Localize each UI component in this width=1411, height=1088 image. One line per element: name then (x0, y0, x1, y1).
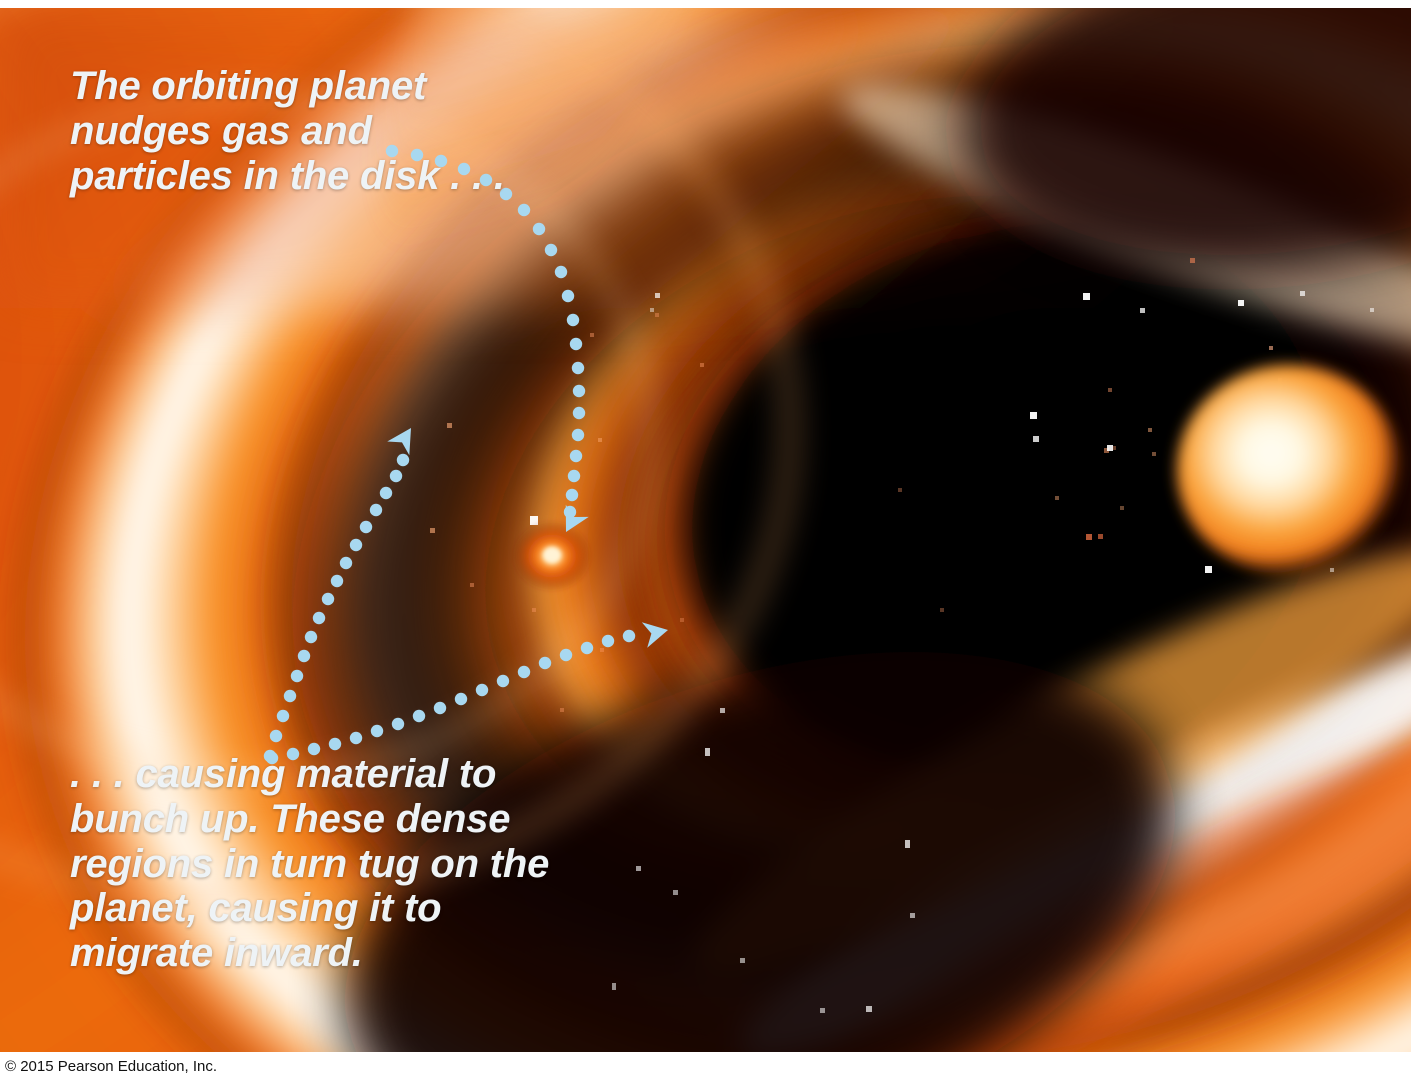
central-star (1177, 365, 1401, 575)
protoplanetary-disk-illustration (0, 8, 1411, 1052)
copyright-notice: © 2015 Pearson Education, Inc. (5, 1058, 217, 1075)
orbiting-planet (512, 520, 592, 592)
astronomy-figure: The orbiting planet nudges gas and parti… (0, 0, 1411, 1088)
